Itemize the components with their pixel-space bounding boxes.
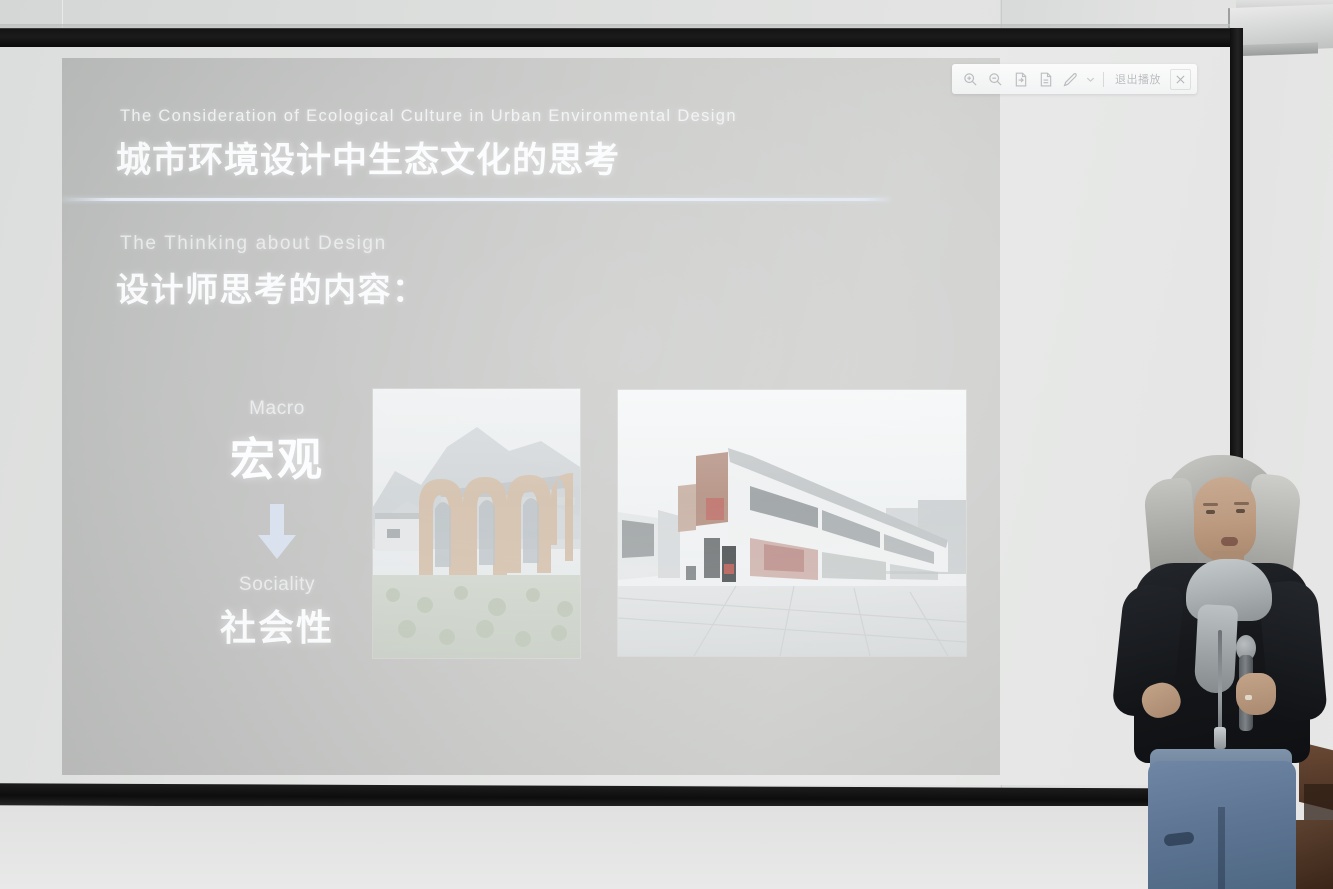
- slide-subtitle-english: The Thinking about Design: [120, 233, 387, 255]
- flow-label-sociality-english: Sociality: [182, 574, 372, 596]
- previous-page-icon[interactable]: [1008, 67, 1033, 91]
- presenter-eyebrow-left: [1203, 503, 1218, 506]
- presenter-eye-right: [1236, 509, 1245, 513]
- presenter-eyebrow-right: [1234, 502, 1249, 505]
- zoom-out-icon[interactable]: [983, 67, 1008, 91]
- slide-subtitle-chinese: 设计师思考的内容：: [116, 263, 427, 311]
- slide-photo-industrial-street[interactable]: [618, 390, 966, 656]
- flow-label-sociality-chinese: 社会性: [182, 599, 372, 651]
- presenter-mouth: [1221, 537, 1238, 546]
- presenter: [1108, 455, 1333, 889]
- presenter-zipper-pull: [1214, 727, 1226, 749]
- slide-title-english: The Consideration of Ecological Culture …: [120, 107, 737, 126]
- presenter-scarf-tail: [1194, 604, 1239, 694]
- pen-icon[interactable]: [1058, 67, 1083, 91]
- slide-title-chinese: 城市环境设计中生态文化的思考: [116, 132, 620, 183]
- exit-playback-button[interactable]: 退出播放: [1109, 71, 1167, 87]
- ppt-playback-toolbar[interactable]: 退出播放: [952, 64, 1197, 94]
- down-arrow-icon: [255, 504, 299, 560]
- wall-below-screen: [0, 806, 1245, 889]
- concept-flow-column: Macro 宏观 Sociality 社会性: [182, 398, 372, 651]
- slide-photo-rural-arcade[interactable]: [373, 389, 580, 658]
- slide-divider-rule: [62, 198, 890, 201]
- presenter-ring: [1245, 695, 1252, 700]
- screenshot-root: The Consideration of Ecological Culture …: [0, 0, 1333, 889]
- zoom-in-icon[interactable]: [958, 67, 983, 91]
- presenter-face: [1194, 477, 1256, 561]
- chevron-down-icon[interactable]: [1083, 67, 1098, 91]
- projected-slide[interactable]: The Consideration of Ecological Culture …: [62, 58, 1000, 775]
- close-icon[interactable]: [1170, 69, 1191, 90]
- next-page-icon[interactable]: [1033, 67, 1058, 91]
- flow-label-macro-english: Macro: [182, 398, 372, 420]
- projector-screen-top-bar: [0, 28, 1230, 47]
- presenter-jeans-seam: [1218, 807, 1225, 889]
- presenter-eye-left: [1206, 510, 1215, 514]
- flow-label-macro-chinese: 宏观: [182, 423, 372, 488]
- toolbar-separator: [1103, 72, 1104, 87]
- rural-arcade-illustration: [373, 389, 580, 658]
- industrial-street-illustration: [618, 390, 966, 656]
- presenter-hand-right: [1236, 673, 1276, 715]
